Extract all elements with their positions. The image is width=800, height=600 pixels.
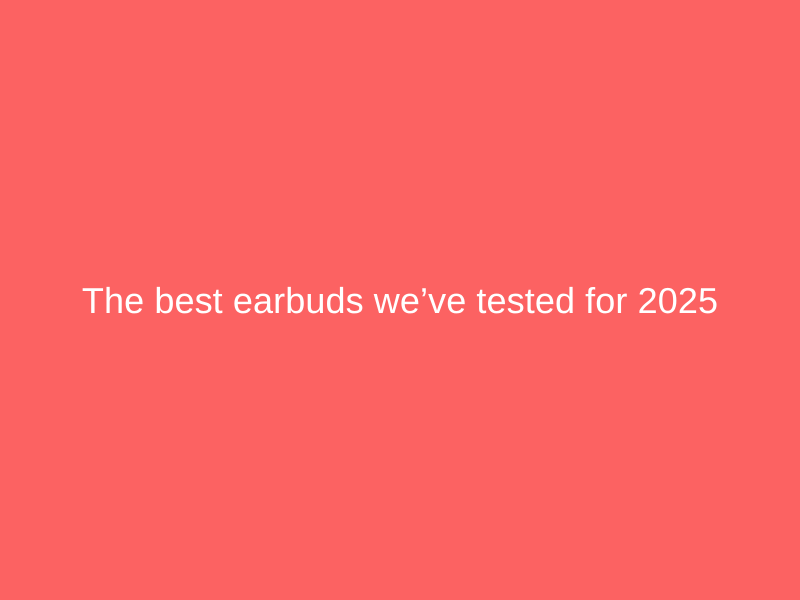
headline-card: The best earbuds we’ve tested for 2025 (0, 0, 800, 600)
page-title: The best earbuds we’ve tested for 2025 (0, 278, 800, 323)
